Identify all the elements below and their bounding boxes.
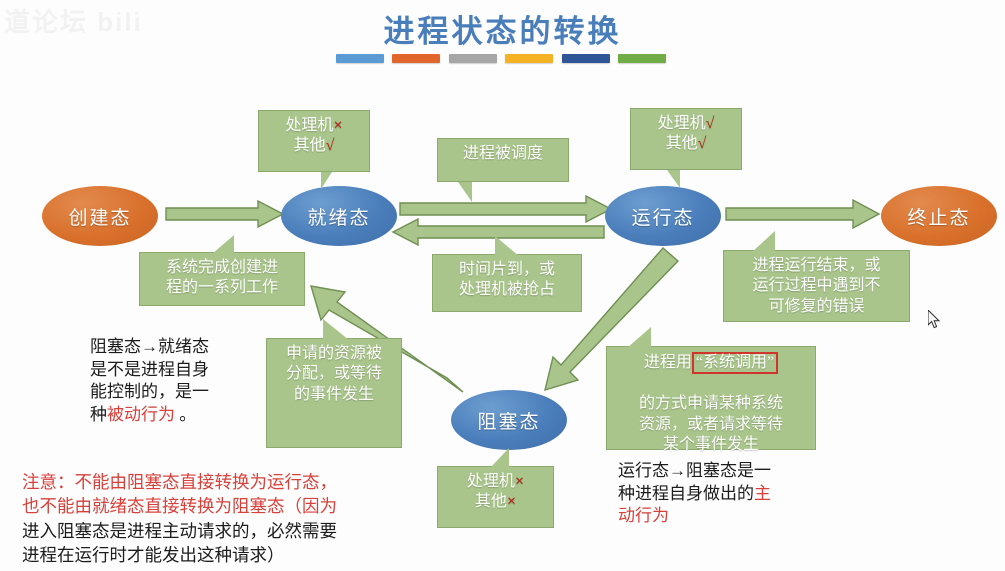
- resource-label-cpu: 处理机: [658, 115, 706, 132]
- callout-tail: [458, 182, 472, 202]
- syscall-highlight-box: “系统调用”: [692, 352, 778, 374]
- note-warning: 注意：不能由阻塞态直接转换为运行态， 也不能由就绪态直接转换为阻塞态（因为 进入…: [22, 470, 452, 567]
- state-label: 运行态: [631, 203, 694, 230]
- state-label: 终止态: [907, 203, 970, 230]
- callout-blocked-resources: 处理机× 其他×: [437, 466, 554, 528]
- callout-resource-granted: 申请的资源被 分配，或等待 的事件发生: [266, 338, 402, 448]
- state-label: 创建态: [68, 203, 131, 230]
- callout-tail: [667, 170, 680, 188]
- callout-line: 处理机√: [638, 114, 734, 134]
- callout-tail: [212, 235, 234, 254]
- callout-line: 处理机×: [445, 472, 546, 492]
- cpu-mark-icon: ×: [515, 473, 524, 490]
- callout-tail: [323, 319, 349, 340]
- state-label: 阻塞态: [477, 407, 540, 434]
- quote-close: ”: [767, 354, 774, 371]
- callout-text: 系统完成创建进 程的一系列工作: [166, 259, 278, 296]
- note-block-to-ready: 阻塞态→就绪态 是不是进程自身 能控制的，是一 种被动行为 。: [90, 336, 280, 426]
- slide-canvas: 道论坛 bili 进程状态的转换 .ar{fill:#a9c58b;stroke…: [0, 0, 1005, 571]
- callout-text: 申请的资源被 分配，或等待 的事件发生: [286, 345, 382, 403]
- note-emphasis: 被动行为: [107, 405, 175, 424]
- cpu-mark-icon: √: [706, 115, 715, 132]
- arrow-run-to-term: [726, 200, 879, 228]
- resource-label-other: 其他: [475, 493, 507, 510]
- warning-red-text: 注意：不能由阻塞态直接转换为运行态， 也不能由就绪态直接转换为阻塞态（因为: [22, 472, 337, 516]
- other-mark-icon: √: [326, 137, 335, 154]
- state-node-blocked[interactable]: 阻塞态: [451, 390, 567, 450]
- callout-text: 时间片到，或 处理机被抢占: [459, 261, 555, 298]
- other-mark-icon: √: [698, 135, 707, 152]
- note-run-to-block: 运行态→阻塞态是一 种进程自身做出的主 动行为: [618, 460, 828, 528]
- callout-ready-resources: 处理机× 其他√: [258, 110, 370, 172]
- callout-tail: [321, 172, 332, 189]
- callout-tail: [627, 327, 651, 348]
- callout-scheduled: 进程被调度: [437, 138, 569, 182]
- callout-line: 其他√: [266, 136, 362, 156]
- quote-open: “: [696, 354, 703, 371]
- callout-text: 的方式申请某种系统 资源，或者请求等待 某个事件发生: [639, 395, 783, 453]
- note-tail: 。: [175, 405, 196, 424]
- callout-line: 其他√: [638, 134, 734, 154]
- arrow-ready-to-run: [400, 196, 611, 222]
- syscall-prefix: 进程用: [644, 354, 692, 371]
- state-node-running[interactable]: 运行态: [605, 186, 721, 246]
- cpu-mark-icon: ×: [333, 117, 342, 134]
- callout-line: 进程用“系统调用”: [614, 352, 808, 374]
- callout-run-ended: 进程运行结束，或 运行过程中遇到不 可修复的错误: [723, 250, 910, 322]
- callout-line: 处理机×: [266, 116, 362, 136]
- warning-black-text: 进入阻塞态是进程主动请求的，必然需要 进程在运行时才能发出这种请求）: [22, 521, 337, 565]
- resource-label-other: 其他: [294, 137, 326, 154]
- callout-text: 进程运行结束，或 运行过程中遇到不 可修复的错误: [752, 257, 880, 315]
- other-mark-icon: ×: [507, 493, 516, 510]
- state-node-terminated[interactable]: 终止态: [881, 186, 997, 246]
- callout-tail: [752, 231, 775, 252]
- callout-line: 其他×: [445, 492, 546, 512]
- callout-text: 进程被调度: [463, 145, 543, 162]
- callout-tail: [495, 236, 519, 256]
- callout-system-call: 进程用“系统调用” 的方式申请某种系统 资源，或者请求等待 某个事件发生: [606, 346, 816, 450]
- arrow-create-to-ready: [166, 201, 283, 227]
- resource-label-other: 其他: [666, 135, 698, 152]
- callout-running-resources: 处理机√ 其他√: [630, 108, 742, 170]
- syscall-term: 系统调用: [703, 354, 767, 371]
- resource-label-cpu: 处理机: [467, 473, 515, 490]
- callout-creation-work: 系统完成创建进 程的一系列工作: [139, 252, 305, 306]
- state-label: 就绪态: [307, 203, 370, 230]
- callout-timeslice: 时间片到，或 处理机被抢占: [432, 254, 582, 312]
- callout-tail: [490, 448, 509, 468]
- resource-label-cpu: 处理机: [285, 117, 333, 134]
- state-node-ready[interactable]: 就绪态: [281, 186, 397, 246]
- state-node-create[interactable]: 创建态: [42, 186, 158, 246]
- mouse-cursor-icon: [928, 310, 941, 329]
- note-text: 运行态→阻塞态是一 种进程自身做出的: [618, 461, 771, 503]
